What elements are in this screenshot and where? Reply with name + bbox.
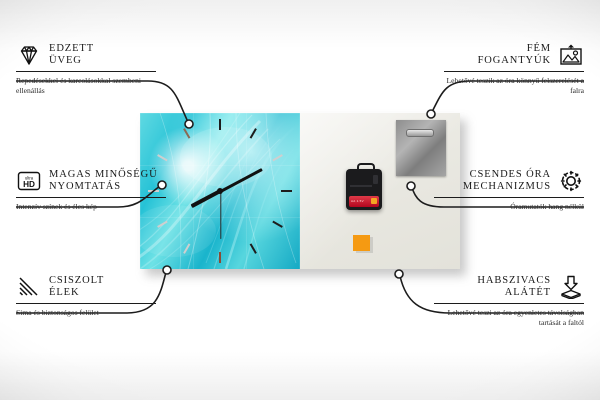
feature-description: Intenzív színek és éles kép	[16, 202, 166, 212]
feature-divider	[16, 71, 156, 72]
ultra-hd-icon: ultra HD	[16, 168, 42, 194]
feature-title: CSENDES ÓRAMECHANIZMUS	[463, 169, 551, 194]
picture-hanger-icon	[558, 42, 584, 68]
foam-pad	[353, 235, 370, 251]
feature-divider	[16, 197, 166, 198]
polished-edge-icon	[16, 274, 42, 300]
gear-icon	[558, 168, 584, 194]
clock-center-cap	[217, 188, 223, 194]
svg-text:HD: HD	[23, 180, 35, 189]
feature-header: CSENDES ÓRAMECHANIZMUS	[434, 168, 584, 194]
clock-tick-12	[219, 119, 221, 130]
product-image: AA 1.5V	[140, 113, 460, 269]
feature-edzett-uveg[interactable]: EDZETTÜVEG Repedésekkel és karcolásokkal…	[16, 42, 156, 95]
feature-header: CSISZOLTÉLEK	[16, 274, 156, 300]
feature-magas-minosegu-nyomtatas[interactable]: ultra HD MAGAS MINŐSÉGŰNYOMTATÁS Intenzí…	[16, 168, 166, 212]
infographic-canvas: AA 1.5V	[0, 0, 600, 400]
feature-header: HABSZIVACSALÁTÉT	[434, 274, 584, 300]
clock-tick-6	[219, 252, 221, 263]
battery-plus-terminal	[371, 198, 377, 204]
clock-mechanism: AA 1.5V	[346, 169, 382, 210]
feature-csendes-ora-mechanizmus[interactable]: CSENDES ÓRAMECHANIZMUS Óramutatók hang n…	[434, 168, 584, 212]
feature-description: Sima és biztonságos felület	[16, 308, 156, 318]
feature-description: Óramutatók hang nélkül	[434, 202, 584, 212]
feature-divider	[16, 303, 156, 304]
clock-second-hand	[220, 191, 221, 239]
feature-title: EDZETTÜVEG	[49, 43, 94, 68]
foam-pad-icon	[558, 274, 584, 300]
hanger-slot	[406, 129, 434, 137]
mechanism-knob	[373, 175, 378, 184]
feature-fem-fogantyuk[interactable]: FÉMFOGANTYÚK Lehetővé teszik az óra könn…	[444, 42, 584, 95]
feature-title: FÉMFOGANTYÚK	[478, 43, 551, 68]
feature-title: MAGAS MINŐSÉGŰNYOMTATÁS	[49, 169, 158, 194]
feature-header: FÉMFOGANTYÚK	[444, 42, 584, 68]
feature-description: Lehetővé teszi az óra egyenletes távolsá…	[434, 308, 584, 327]
feature-divider	[434, 197, 584, 198]
diamond-icon	[16, 42, 42, 68]
feature-header: EDZETTÜVEG	[16, 42, 156, 68]
mechanism-hanger-loop	[357, 163, 375, 174]
feature-csiszolt-elek[interactable]: CSISZOLTÉLEK Sima és biztonságos felület	[16, 274, 156, 318]
battery: AA 1.5V	[349, 196, 379, 207]
clock-tick-3	[281, 190, 292, 192]
feature-description: Repedésekkel és karcolásokkal szembeni e…	[16, 76, 156, 95]
mechanism-seam	[350, 185, 372, 187]
feature-header: ultra HD MAGAS MINŐSÉGŰNYOMTATÁS	[16, 168, 166, 194]
feature-description: Lehetővé teszik az óra könnyű felszerelé…	[444, 76, 584, 95]
feature-title: CSISZOLTÉLEK	[49, 275, 104, 300]
battery-label: AA 1.5V	[351, 199, 364, 203]
feature-divider	[434, 303, 584, 304]
feature-divider	[444, 71, 584, 72]
feature-habszivacs-alatet[interactable]: HABSZIVACSALÁTÉT Lehetővé teszi az óra e…	[434, 274, 584, 327]
feature-title: HABSZIVACSALÁTÉT	[477, 275, 551, 300]
